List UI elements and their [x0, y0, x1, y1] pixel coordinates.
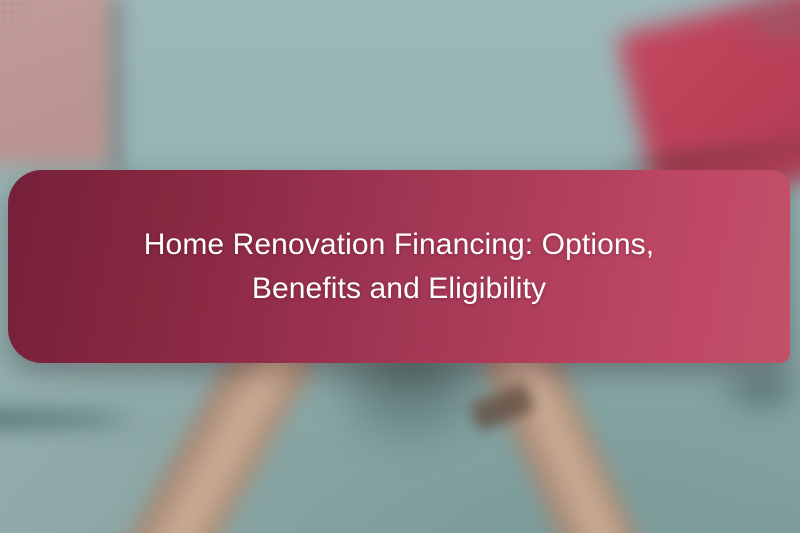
- title-banner: Home Renovation Financing: Options, Bene…: [8, 170, 790, 363]
- bottom-right-texture: [678, 441, 800, 533]
- page-title: Home Renovation Financing: Options, Bene…: [89, 223, 709, 310]
- center-shadow-wedge: [300, 355, 520, 533]
- top-right-blur-smudge: [700, 0, 800, 60]
- lower-left-streak: [0, 408, 140, 430]
- hero-image: Home Renovation Financing: Options, Bene…: [0, 0, 800, 533]
- bottom-right-blur-smudge: [690, 368, 800, 424]
- pink-notebook-texture: [0, 0, 66, 52]
- surface-seam-shadow: [104, 0, 130, 172]
